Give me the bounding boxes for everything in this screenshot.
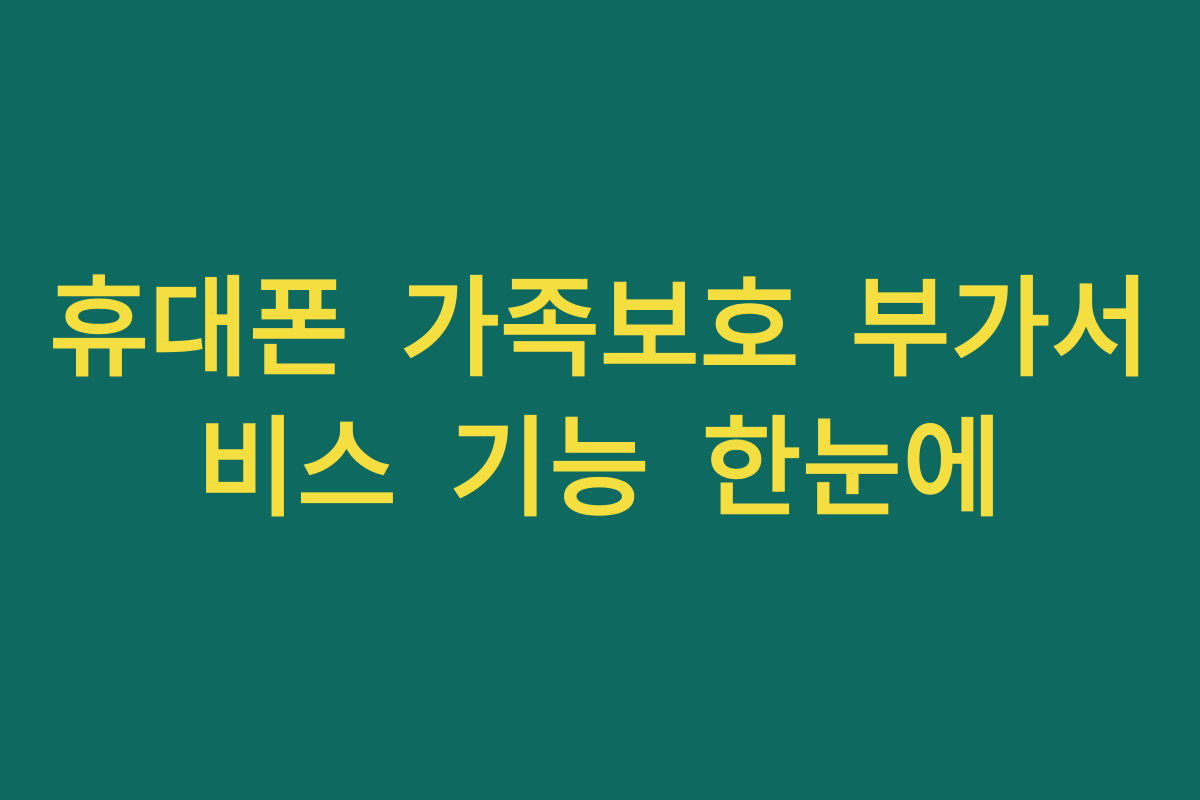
headline-line-1: 휴대폰 가족보호 부가서 [40, 260, 1160, 400]
headline-line-2: 비스 기능 한눈에 [40, 400, 1160, 540]
banner-card: 휴대폰 가족보호 부가서 비스 기능 한눈에 [0, 0, 1200, 800]
headline: 휴대폰 가족보호 부가서 비스 기능 한눈에 [40, 260, 1160, 540]
